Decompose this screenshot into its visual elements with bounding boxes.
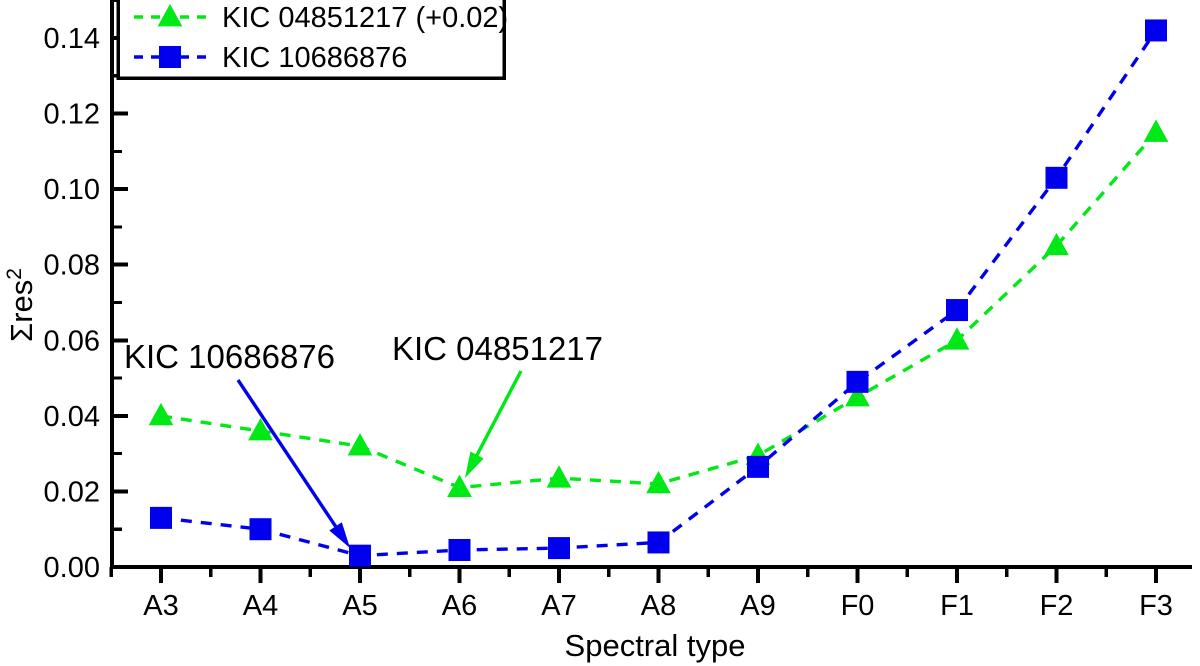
x-tick-label: A5	[342, 590, 377, 622]
y-tick-label: 0.06	[44, 325, 100, 357]
legend-marker-square-icon	[159, 46, 181, 68]
annotation-arrow-head	[465, 451, 484, 478]
y-tick-label: 0.12	[44, 99, 100, 131]
data-point-marker	[946, 299, 968, 321]
y-axis-tick-labels: 0.000.020.040.060.080.100.120.14	[44, 23, 100, 584]
series-line	[161, 133, 1156, 488]
data-point-marker	[149, 403, 174, 425]
annotation-arrow-head	[329, 522, 350, 548]
data-point-marker	[747, 456, 769, 478]
data-point-marker	[348, 433, 373, 455]
data-point-marker	[547, 465, 572, 487]
data-point-marker	[646, 471, 671, 493]
data-point-marker	[1145, 19, 1167, 41]
chart-canvas: 0.000.020.040.060.080.100.120.14 A3A4A5A…	[0, 0, 1200, 666]
y-tick-label: 0.14	[44, 23, 100, 55]
annotation-arrow-line	[472, 371, 521, 465]
x-tick-label: A8	[641, 590, 676, 622]
data-point-marker	[648, 531, 670, 553]
y-axis-title-text: Σres2	[3, 268, 39, 342]
x-tick-label: F1	[940, 590, 974, 622]
y-tick-label: 0.08	[44, 250, 100, 282]
y-axis-ticks	[112, 0, 128, 567]
x-tick-label: A3	[143, 590, 178, 622]
annot-kic-04851217: KIC 04851217	[392, 330, 603, 478]
annotation-label: KIC 10686876	[124, 338, 335, 375]
annotation-arrow-line	[238, 380, 342, 536]
data-point-marker	[847, 371, 869, 393]
legend-label: KIC 04851217 (+0.02)	[222, 2, 508, 34]
data-point-marker	[349, 545, 371, 567]
x-tick-label: A9	[740, 590, 775, 622]
x-tick-label: F0	[841, 590, 875, 622]
x-tick-label: F2	[1040, 590, 1074, 622]
series-layer	[149, 19, 1169, 566]
data-point-marker	[548, 537, 570, 559]
data-point-marker	[250, 518, 272, 540]
legend-label: KIC 10686876	[222, 42, 407, 74]
y-tick-label: 0.00	[44, 552, 100, 584]
y-tick-label: 0.04	[44, 401, 100, 433]
series-1	[149, 119, 1169, 497]
x-axis-ticks	[111, 567, 1156, 583]
data-point-marker	[1046, 167, 1068, 189]
x-tick-label: A7	[541, 590, 576, 622]
y-axis-title-exponent: 2	[3, 268, 26, 280]
y-axis-title-base: Σres	[4, 280, 39, 342]
y-tick-label: 0.10	[44, 174, 100, 206]
data-point-marker	[1044, 233, 1069, 255]
data-point-marker	[1144, 119, 1169, 141]
x-tick-label: A4	[243, 590, 278, 622]
chart-figure: 0.000.020.040.060.080.100.120.14 A3A4A5A…	[0, 0, 1200, 666]
data-point-marker	[945, 327, 970, 349]
y-axis-title: Σres2	[3, 268, 39, 342]
x-axis-tick-labels: A3A4A5A6A7A8A9F0F1F2F3	[143, 590, 1173, 622]
x-axis-title-text: Spectral type	[565, 628, 746, 663]
x-tick-label: A6	[442, 590, 477, 622]
data-point-marker	[150, 507, 172, 529]
x-tick-label: F3	[1139, 590, 1173, 622]
annotation-label: KIC 04851217	[392, 330, 603, 367]
y-tick-label: 0.02	[44, 476, 100, 508]
chart-legend: KIC 04851217 (+0.02)KIC 10686876	[118, 0, 508, 78]
annotation-layer: KIC 10686876KIC 04851217	[124, 330, 603, 548]
data-point-marker	[449, 539, 471, 561]
